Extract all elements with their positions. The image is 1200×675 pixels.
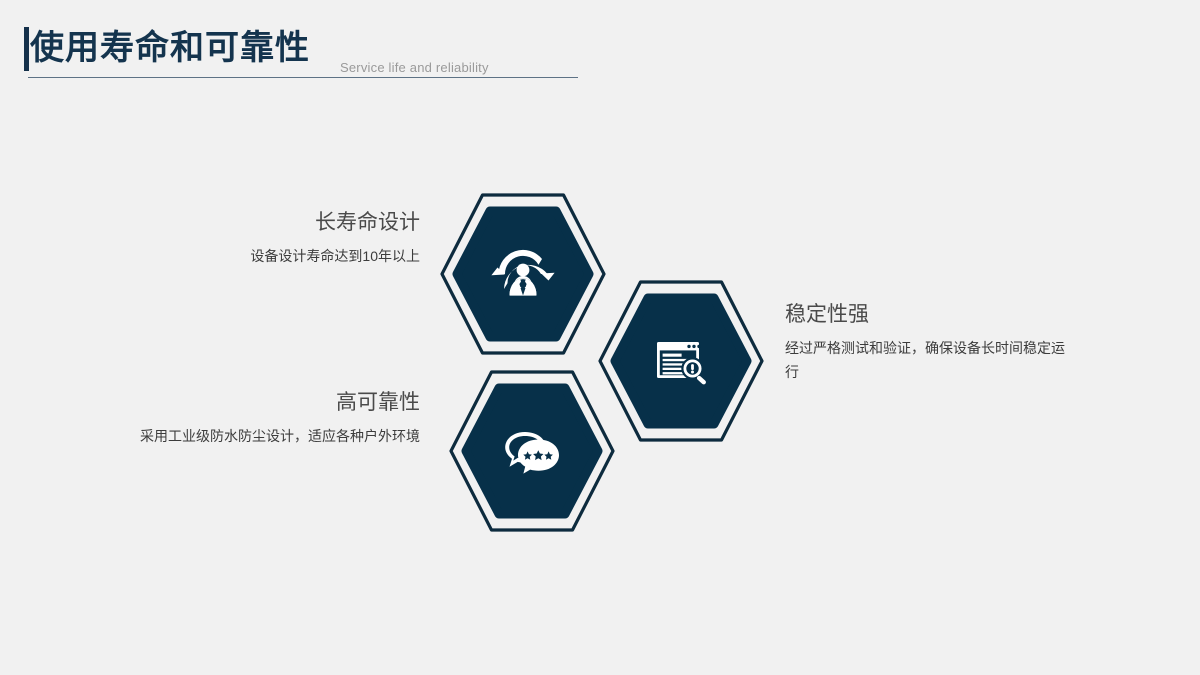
feature-heading: 高可靠性 <box>95 388 420 416</box>
feature-body: 采用工业级防水防尘设计，适应各种户外环境 <box>95 424 420 448</box>
slide-header: 使用寿命和可靠性 Service life and reliability <box>0 0 1200 100</box>
feature-text-high-reliability: 高可靠性 采用工业级防水防尘设计，适应各种户外环境 <box>95 388 420 448</box>
feature-body: 设备设计寿命达到10年以上 <box>95 244 420 268</box>
feature-text-high-stability: 稳定性强 经过严格测试和验证，确保设备长时间稳定运行 <box>785 300 1075 384</box>
feature-body: 经过严格测试和验证，确保设备长时间稳定运行 <box>785 336 1075 384</box>
hexagon-long-life-design <box>434 191 612 357</box>
feature-heading: 长寿命设计 <box>95 208 420 236</box>
feature-heading: 稳定性强 <box>785 300 1075 328</box>
hexagon-high-reliability <box>443 368 621 534</box>
hex-card-long-life-design[interactable] <box>434 191 612 357</box>
hex-card-high-reliability[interactable] <box>443 368 621 534</box>
slide-canvas: 使用寿命和可靠性 Service life and reliability <box>0 0 1200 675</box>
title-divider <box>28 77 578 78</box>
page-title: 使用寿命和可靠性 <box>30 26 310 70</box>
feature-text-long-life-design: 长寿命设计 设备设计寿命达到10年以上 <box>95 208 420 268</box>
page-subtitle: Service life and reliability <box>340 60 489 75</box>
title-accent-bar <box>24 27 29 71</box>
